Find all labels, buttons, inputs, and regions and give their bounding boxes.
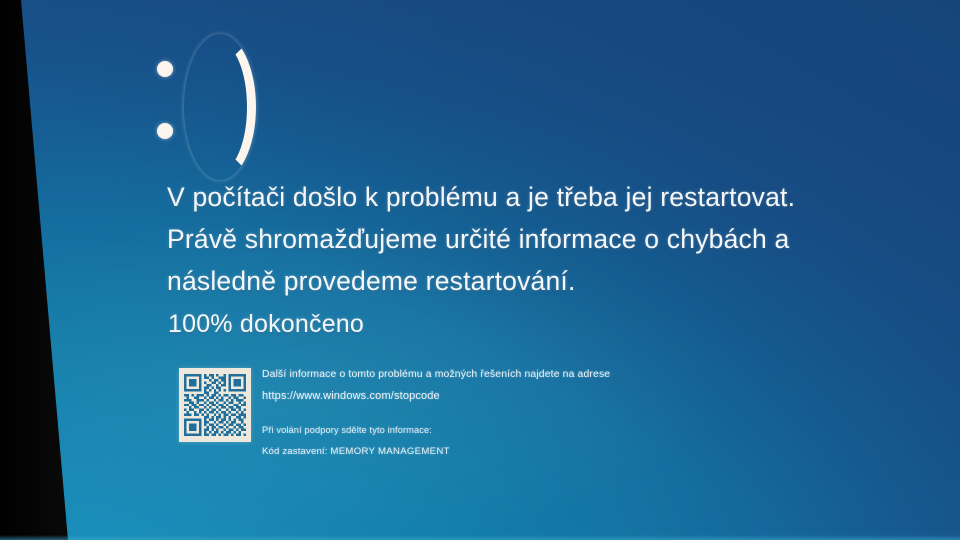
headline-line-2: Právě shromažďujeme určité informace o c… — [167, 218, 827, 260]
bsod-content: V počítači došlo k problému a je třeba j… — [0, 0, 960, 540]
sad-face-icon — [150, 28, 240, 178]
face-dot-lower-icon — [157, 123, 173, 139]
face-paren-icon — [184, 34, 256, 180]
stopcode-line: Kód zastavení: MEMORY MANAGEMENT — [262, 444, 682, 460]
stopcode-label: Kód zastavení: — [262, 446, 328, 457]
qr-code-canvas — [184, 373, 246, 437]
more-info-text: Další informace o tomto problému a možný… — [262, 366, 682, 383]
qr-code — [179, 368, 251, 442]
headline-line-1: V počítači došlo k problému a je třeba j… — [167, 176, 827, 218]
monitor-photo: V počítači došlo k problému a je třeba j… — [0, 0, 960, 540]
progress-text: 100% dokončeno — [168, 308, 364, 340]
support-prompt-text: Při volání podpory sdělte tyto informace… — [262, 422, 682, 438]
error-headline: V počítači došlo k problému a je třeba j… — [167, 176, 827, 302]
headline-line-3: následně provedeme restartování. — [167, 260, 827, 302]
stopcode-value: MEMORY MANAGEMENT — [330, 446, 449, 457]
stopcode-url[interactable]: https://www.windows.com/stopcode — [262, 387, 682, 405]
details-text: Další informace o tomto problému a možný… — [262, 366, 682, 460]
face-dot-upper-icon — [157, 61, 173, 77]
